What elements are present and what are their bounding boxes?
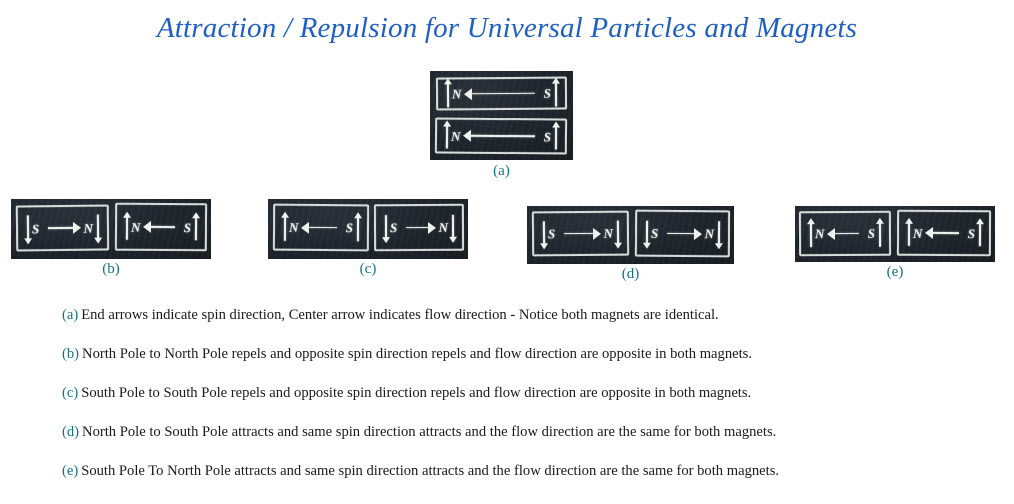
magnet-e-1: NS <box>799 211 891 256</box>
up-arrow <box>280 212 289 242</box>
up-arrow <box>191 212 200 242</box>
caption-a: (a)End arrows indicate spin direction, C… <box>62 308 1002 347</box>
caption-c-tag: (c) <box>62 385 78 401</box>
up-arrow <box>875 218 884 248</box>
caption-a-text: End arrows indicate spin direction, Cent… <box>81 307 718 323</box>
down-arrow <box>93 213 102 243</box>
figure-e: NSNS (e) <box>795 206 995 290</box>
up-arrow <box>353 213 362 243</box>
pole-label-left: N <box>289 221 298 234</box>
caption-d-tag: (d) <box>62 424 79 440</box>
caption-a-tag: (a) <box>62 307 78 323</box>
pole-label-right: N <box>705 227 714 240</box>
pole-label-left: S <box>651 227 658 240</box>
magnet-c-1: NS <box>273 204 369 252</box>
left-arrow <box>828 227 863 239</box>
down-arrow <box>642 218 651 248</box>
figure-d-label: (d) <box>527 266 734 283</box>
caption-list: (a)End arrows indicate spin direction, C… <box>62 308 1002 503</box>
up-arrow <box>551 78 560 108</box>
caption-e: (e)South Pole To North Pole attracts and… <box>62 464 1002 503</box>
page-title: Attraction / Repulsion for Universal Par… <box>0 12 1014 45</box>
pole-label-right: N <box>84 221 94 234</box>
figure-b-board: SNNS <box>11 199 211 259</box>
figure-b-label: (b) <box>11 261 211 278</box>
right-arrow <box>662 227 700 239</box>
pole-label-left: N <box>913 226 922 239</box>
caption-d: (d)North Pole to South Pole attracts and… <box>62 425 1002 464</box>
pole-label-right: S <box>544 130 551 143</box>
pole-label-left: N <box>131 220 140 233</box>
left-arrow <box>464 130 539 143</box>
magnet-c-2: SN <box>374 204 464 251</box>
figure-a-label: (a) <box>430 163 573 180</box>
up-arrow <box>904 218 913 248</box>
pole-label-left: N <box>451 129 461 142</box>
right-arrow <box>401 221 434 233</box>
left-arrow <box>465 87 539 100</box>
caption-c-text: South Pole to South Pole repels and oppo… <box>81 385 751 401</box>
down-arrow <box>714 219 723 249</box>
pole-label-right: S <box>346 221 353 234</box>
up-arrow <box>122 212 131 242</box>
figure-e-label: (e) <box>795 264 995 281</box>
down-arrow <box>448 212 457 242</box>
caption-e-text: South Pole To North Pole attracts and sa… <box>81 463 779 479</box>
pole-label-right: S <box>968 227 975 240</box>
figure-c: NSSN (c) <box>268 199 468 283</box>
caption-b-tag: (b) <box>62 346 79 362</box>
caption-b: (b)North Pole to North Pole repels and o… <box>62 347 1002 386</box>
pole-label-right: N <box>604 227 614 240</box>
right-arrow <box>559 227 599 239</box>
magnet-e-2: NS <box>897 210 991 256</box>
figure-c-board: NSSN <box>268 199 468 259</box>
magnet-b-1: SN <box>16 205 109 252</box>
up-arrow <box>443 79 452 109</box>
pole-label-left: S <box>390 221 397 234</box>
pole-label-right: S <box>544 87 551 100</box>
pole-label-left: S <box>548 227 555 240</box>
down-arrow <box>23 213 32 243</box>
pole-label-right: N <box>439 221 448 234</box>
up-arrow <box>442 120 451 150</box>
figure-e-board: NSNS <box>795 206 995 262</box>
figure-a: NSNS (a) <box>430 71 573 184</box>
left-arrow <box>144 221 179 233</box>
pole-label-right: S <box>184 221 191 234</box>
magnet-d-1: SN <box>532 211 629 257</box>
magnet-d-2: SN <box>635 210 730 258</box>
down-arrow <box>613 218 622 248</box>
magnet-b-2: NS <box>115 203 207 252</box>
figure-a-board: NSNS <box>430 71 573 160</box>
figure-c-label: (c) <box>268 261 468 278</box>
up-arrow <box>975 218 984 248</box>
magnet-a-2: NS <box>435 117 567 154</box>
caption-b-text: North Pole to North Pole repels and oppo… <box>82 346 752 362</box>
left-arrow <box>926 227 963 239</box>
left-arrow <box>302 221 341 233</box>
right-arrow <box>43 222 79 234</box>
caption-c: (c)South Pole to South Pole repels and o… <box>62 386 1002 425</box>
figure-d: SNSN (d) <box>527 206 734 290</box>
caption-e-tag: (e) <box>62 463 78 479</box>
down-arrow <box>539 219 548 249</box>
magnet-a-1: NS <box>436 77 567 111</box>
down-arrow <box>381 213 390 243</box>
caption-d-text: North Pole to South Pole attracts and sa… <box>82 424 776 440</box>
figure-d-board: SNSN <box>527 206 734 264</box>
up-arrow <box>551 121 560 151</box>
pole-label-left: N <box>815 227 824 240</box>
pole-label-right: S <box>868 227 875 240</box>
pole-label-left: N <box>452 87 461 100</box>
pole-label-left: S <box>32 222 39 235</box>
figure-b: SNNS (b) <box>11 199 211 283</box>
up-arrow <box>806 219 815 249</box>
